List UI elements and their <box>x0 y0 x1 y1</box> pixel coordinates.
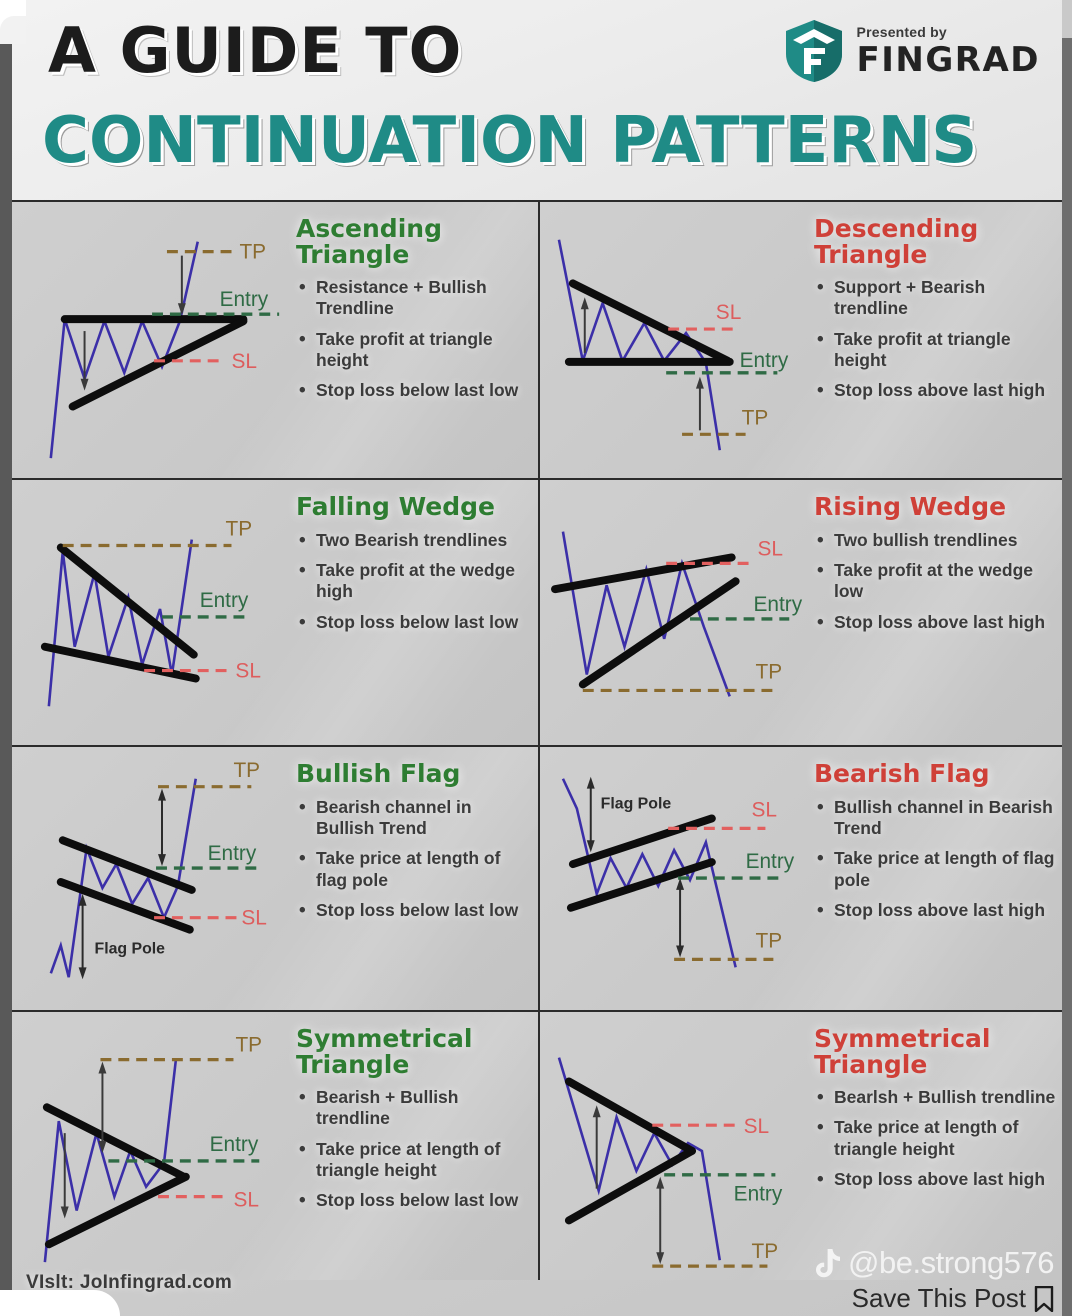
brand-name: FINGRAD <box>857 43 1040 77</box>
sl-label: SL <box>235 660 260 683</box>
bullet-item: Stop loss below last low <box>312 1190 532 1211</box>
flag-pole-label: Flag Pole <box>95 940 166 957</box>
upper-trendline <box>569 1081 692 1150</box>
tiktok-note-icon <box>816 1248 842 1278</box>
triangle-height-arrow <box>61 1133 69 1218</box>
panel-info: Bearish Flag Bullish channel in Bearish … <box>814 761 1056 930</box>
bullet-item: Bearlsh + Bullish trendline <box>830 1087 1056 1108</box>
panel-info: Rising Wedge Two bullish trendlines Take… <box>814 494 1056 642</box>
panel-bullet-list: Two Bearish trendlines Take profit at th… <box>296 530 532 633</box>
bullet-item: Take profit at triangle height <box>312 329 532 372</box>
price-line <box>49 540 192 707</box>
panel-bullet-list: Resistance + Bullish Trendline Take prof… <box>296 277 532 402</box>
panel-bullish-flag: TP Entry SL Flag Pole Bullish Flag <box>12 745 540 1010</box>
entry-label: Entry <box>210 1133 259 1156</box>
measure-arrow-bottom <box>81 331 89 391</box>
bullet-item: Bullish channel in Bearish Trend <box>830 797 1056 840</box>
entry-label: Entry <box>208 842 257 865</box>
upper-trendline <box>61 547 194 654</box>
bullet-item: Stop loss below last low <box>312 900 532 921</box>
bullet-item: Bearish + Bullish trendline <box>312 1087 532 1130</box>
fingrad-shield-icon <box>783 18 845 84</box>
bullet-item: Stop loss above last high <box>830 1169 1056 1190</box>
bookmark-icon[interactable] <box>1034 1286 1054 1312</box>
panel-bullet-list: Bearish + Bullish trendline Take price a… <box>296 1087 532 1212</box>
price-line <box>563 532 730 697</box>
page-title-line1: A GUIDE TO <box>48 14 462 87</box>
header-banner: A GUIDE TO CONTINUATION PATTERNS Present… <box>12 0 1062 200</box>
panel-title: Falling Wedge <box>296 494 532 520</box>
sl-label: SL <box>744 1115 769 1138</box>
tp-label: TP <box>742 406 769 429</box>
bearish-flag-chart: SL Entry TP Flag Pole <box>540 747 840 1010</box>
bullet-item: Take profit at the wedge low <box>830 560 1056 603</box>
panel-info: Ascending Triangle Resistance + Bullish … <box>296 216 532 411</box>
bullet-item: Bearish channel in Bullish Trend <box>312 797 532 840</box>
tp-measure-arrow <box>676 878 684 957</box>
flag-pole-measure-arrow <box>79 894 87 979</box>
right-frame-strip <box>1062 38 1072 1316</box>
panel-falling-wedge: TP Entry SL Falling Wedge Two Bearish tr… <box>12 478 540 745</box>
bullet-item: Take price at length of flag pole <box>830 848 1056 891</box>
flag-pole-label: Flag Pole <box>601 796 672 813</box>
tp-label: TP <box>756 929 783 952</box>
save-post-cta[interactable]: Save This Post <box>852 1283 1054 1314</box>
visit-website-text: VIslt: JoInfingrad.com <box>26 1272 232 1294</box>
bullet-item: Take price at length of triangle height <box>312 1139 532 1182</box>
bullet-item: Stop loss above last high <box>830 612 1056 633</box>
panel-bearish-flag: SL Entry TP Flag Pole Bearish Flag <box>540 745 1062 1010</box>
bullet-item: Take profit at triangle height <box>830 329 1056 372</box>
tp-label: TP <box>752 1240 779 1263</box>
save-post-label: Save This Post <box>852 1283 1026 1314</box>
panel-title: Bullish Flag <box>296 761 532 787</box>
panel-bullet-list: Two bullish trendlines Take profit at th… <box>814 530 1056 633</box>
pattern-grid: TP Entry SL Ascending Triangle Resistanc <box>12 200 1062 1280</box>
panel-info: Descending Triangle Support + Bearish tr… <box>814 216 1056 411</box>
panel-title: Ascending Triangle <box>296 216 532 267</box>
bullet-item: Stop loss above last high <box>830 380 1056 401</box>
tp-label: TP <box>226 518 253 541</box>
tp-label: TP <box>756 661 783 684</box>
ascending-triangle-chart: TP Entry SL <box>12 202 312 478</box>
panel-title: Rising Wedge <box>814 494 1056 520</box>
bullet-item: Stop loss below last low <box>312 612 532 633</box>
panel-info: Falling Wedge Two Bearish trendlines Tak… <box>296 494 532 642</box>
panel-bullet-list: Bullish channel in Bearish Trend Take pr… <box>814 797 1056 922</box>
panel-bullet-list: Bearish channel in Bullish Trend Take pr… <box>296 797 532 922</box>
flag-pole-measure-arrow <box>587 777 595 852</box>
panel-symmetrical-triangle-bullish: TP Entry SL Symmetrical Triangle B <box>12 1010 540 1280</box>
panel-info: Bullish Flag Bearish channel in Bullish … <box>296 761 532 930</box>
bullet-item: Support + Bearish trendline <box>830 277 1056 320</box>
entry-label: Entry <box>754 593 803 616</box>
bullet-item: Two bullish trendlines <box>830 530 1056 551</box>
sl-label: SL <box>231 350 256 373</box>
panel-rising-wedge: SL Entry TP Rising Wedge Two bullish tre… <box>540 478 1062 745</box>
tp-label: TP <box>233 759 260 782</box>
support-trendline <box>73 321 244 406</box>
panel-symmetrical-triangle-bearish: SL Entry TP Symmetrical Triangle B <box>540 1010 1062 1280</box>
symmetrical-triangle-bearish-chart: SL Entry TP <box>540 1012 840 1280</box>
panel-descending-triangle: SL Entry TP Descending Triangle Support … <box>540 200 1062 478</box>
panel-title: Bearish Flag <box>814 761 1056 787</box>
infographic-page: A GUIDE TO CONTINUATION PATTERNS Present… <box>0 0 1072 1316</box>
page-title-line2: CONTINUATION PATTERNS <box>42 104 977 178</box>
price-line <box>51 242 198 458</box>
bullet-item: Stop loss below last low <box>312 380 532 401</box>
panel-info: Symmetrical Triangle Bearish + Bullish t… <box>296 1026 532 1221</box>
bullet-item: Resistance + Bullish Trendline <box>312 277 532 320</box>
entry-label: Entry <box>200 589 249 612</box>
brand-lockup: Presented by FINGRAD <box>783 18 1040 84</box>
bullet-item: Take price at length of triangle height <box>830 1117 1056 1160</box>
sl-label: SL <box>757 537 782 560</box>
panel-bullet-list: Bearlsh + Bullish trendline Take price a… <box>814 1087 1056 1190</box>
bullet-item: Take price at length of flag pole <box>312 848 532 891</box>
descending-triangle-chart: SL Entry TP <box>540 202 840 478</box>
sl-label: SL <box>233 1189 258 1212</box>
left-frame-strip <box>0 38 12 1316</box>
falling-wedge-chart: TP Entry SL <box>12 480 312 745</box>
rising-wedge-chart: SL Entry TP <box>540 480 840 745</box>
entry-label: Entry <box>220 288 269 311</box>
panel-ascending-triangle: TP Entry SL Ascending Triangle Resistanc <box>12 200 540 478</box>
panel-title: Symmetrical Triangle <box>814 1026 1056 1077</box>
tp-label: TP <box>235 1034 262 1057</box>
panel-title: Descending Triangle <box>814 216 1056 267</box>
tiktok-handle-text: @be.strong576 <box>848 1245 1054 1281</box>
sl-label: SL <box>241 907 266 930</box>
bullet-item: Stop loss above last high <box>830 900 1056 921</box>
sl-label: SL <box>716 301 741 324</box>
tp-measure-arrow <box>656 1177 664 1264</box>
tiktok-watermark: @be.strong576 <box>816 1245 1054 1281</box>
panel-info: Symmetrical Triangle Bearlsh + Bullish t… <box>814 1026 1056 1199</box>
lower-trendline <box>583 581 736 684</box>
tp-label: TP <box>239 241 266 264</box>
entry-label: Entry <box>740 349 789 372</box>
entry-label: Entry <box>734 1183 783 1206</box>
bullet-item: Take profit at the wedge high <box>312 560 532 603</box>
measure-arrow-bottom <box>696 377 704 431</box>
presented-by-label: Presented by <box>857 25 1040 39</box>
sl-label: SL <box>752 798 777 821</box>
lower-trendline <box>569 1151 692 1220</box>
panel-bullet-list: Support + Bearish trendline Take profit … <box>814 277 1056 402</box>
symmetrical-triangle-bullish-chart: TP Entry SL <box>12 1012 312 1280</box>
tp-measure-arrow <box>158 789 166 866</box>
bullish-flag-chart: TP Entry SL Flag Pole <box>12 747 312 1010</box>
measure-arrow-top <box>178 256 186 316</box>
entry-label: Entry <box>746 850 795 873</box>
panel-title: Symmetrical Triangle <box>296 1026 532 1077</box>
bullet-item: Two Bearish trendlines <box>312 530 532 551</box>
top-left-corner <box>0 0 26 44</box>
